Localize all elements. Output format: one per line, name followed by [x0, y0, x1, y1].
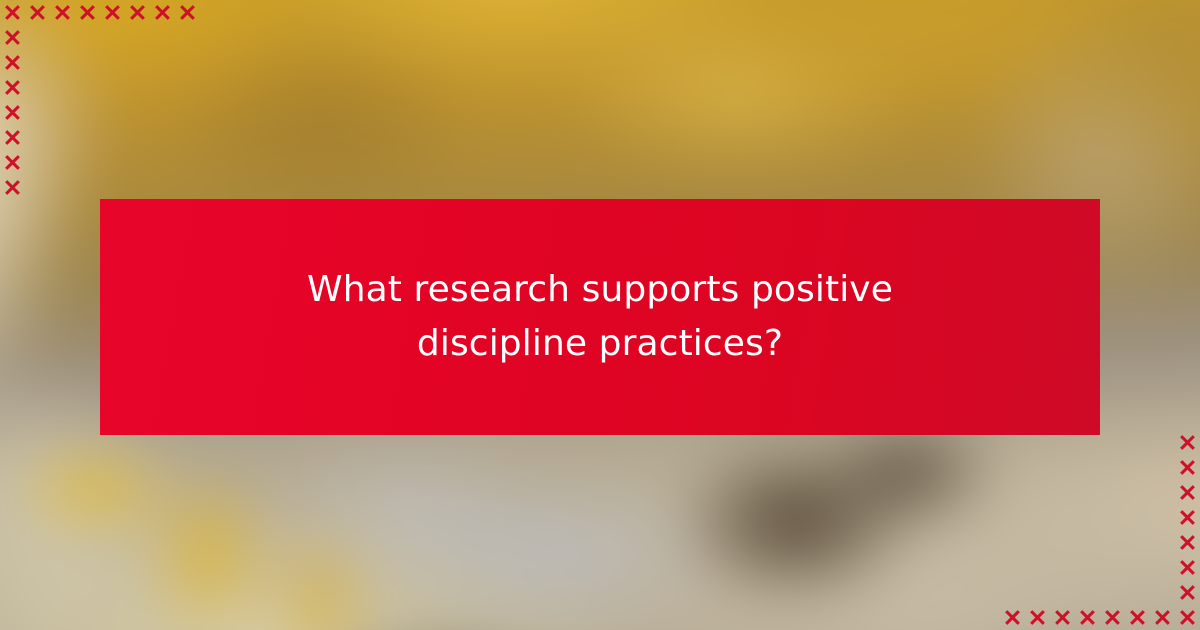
social-share-card: What research supports positive discipli… [0, 0, 1200, 630]
title-banner: What research supports positive discipli… [100, 199, 1100, 435]
page-title: What research supports positive discipli… [235, 263, 965, 371]
